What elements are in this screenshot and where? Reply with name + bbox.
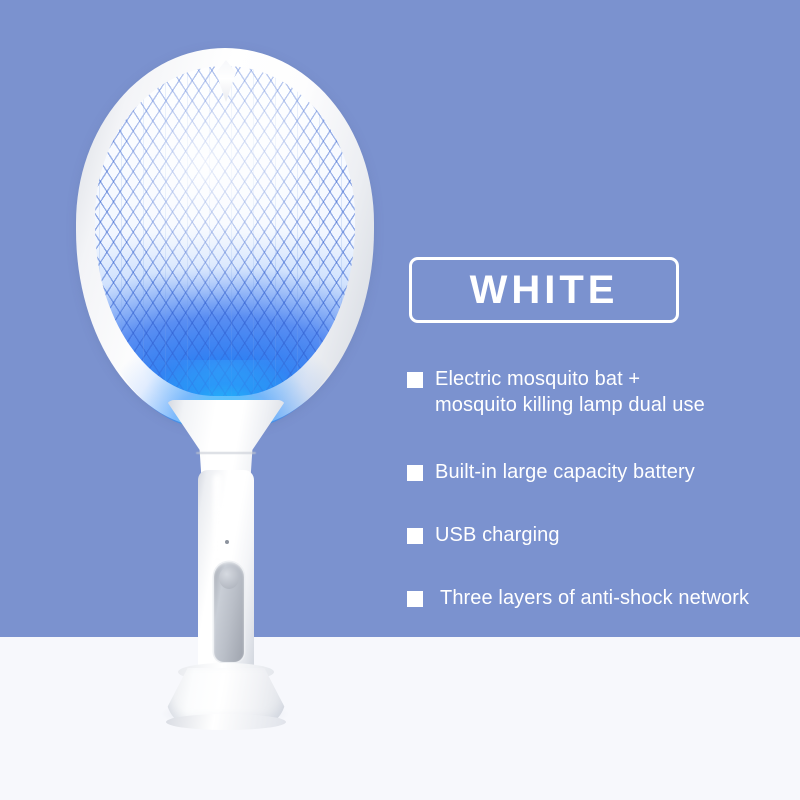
- feature-text: Built-in large capacity battery: [435, 459, 695, 485]
- color-badge: WHITE: [409, 257, 679, 323]
- power-switch-knob: [219, 567, 239, 589]
- feature-text: Electric mosquito bat + mosquito killing…: [435, 366, 705, 418]
- mesh-highlight: [95, 66, 355, 396]
- base-bottom-rim: [166, 714, 286, 730]
- feature-text: USB charging: [435, 522, 560, 548]
- color-badge-label: WHITE: [470, 270, 619, 310]
- feature-item: Built-in large capacity battery: [407, 459, 695, 485]
- square-bullet-icon: [407, 465, 423, 481]
- feature-item: Electric mosquito bat + mosquito killing…: [407, 366, 705, 418]
- feature-item: Three layers of anti-shock network: [407, 585, 749, 611]
- neck-seam-line: [196, 452, 256, 454]
- feature-text: Three layers of anti-shock network: [440, 585, 749, 611]
- racket-mesh-grid: [95, 66, 355, 396]
- led-indicator: [225, 540, 229, 544]
- square-bullet-icon: [407, 591, 423, 607]
- square-bullet-icon: [407, 528, 423, 544]
- feature-item: USB charging: [407, 522, 560, 548]
- square-bullet-icon: [407, 372, 423, 388]
- product-banner: WHITE Electric mosquito bat + mosquito k…: [0, 0, 800, 800]
